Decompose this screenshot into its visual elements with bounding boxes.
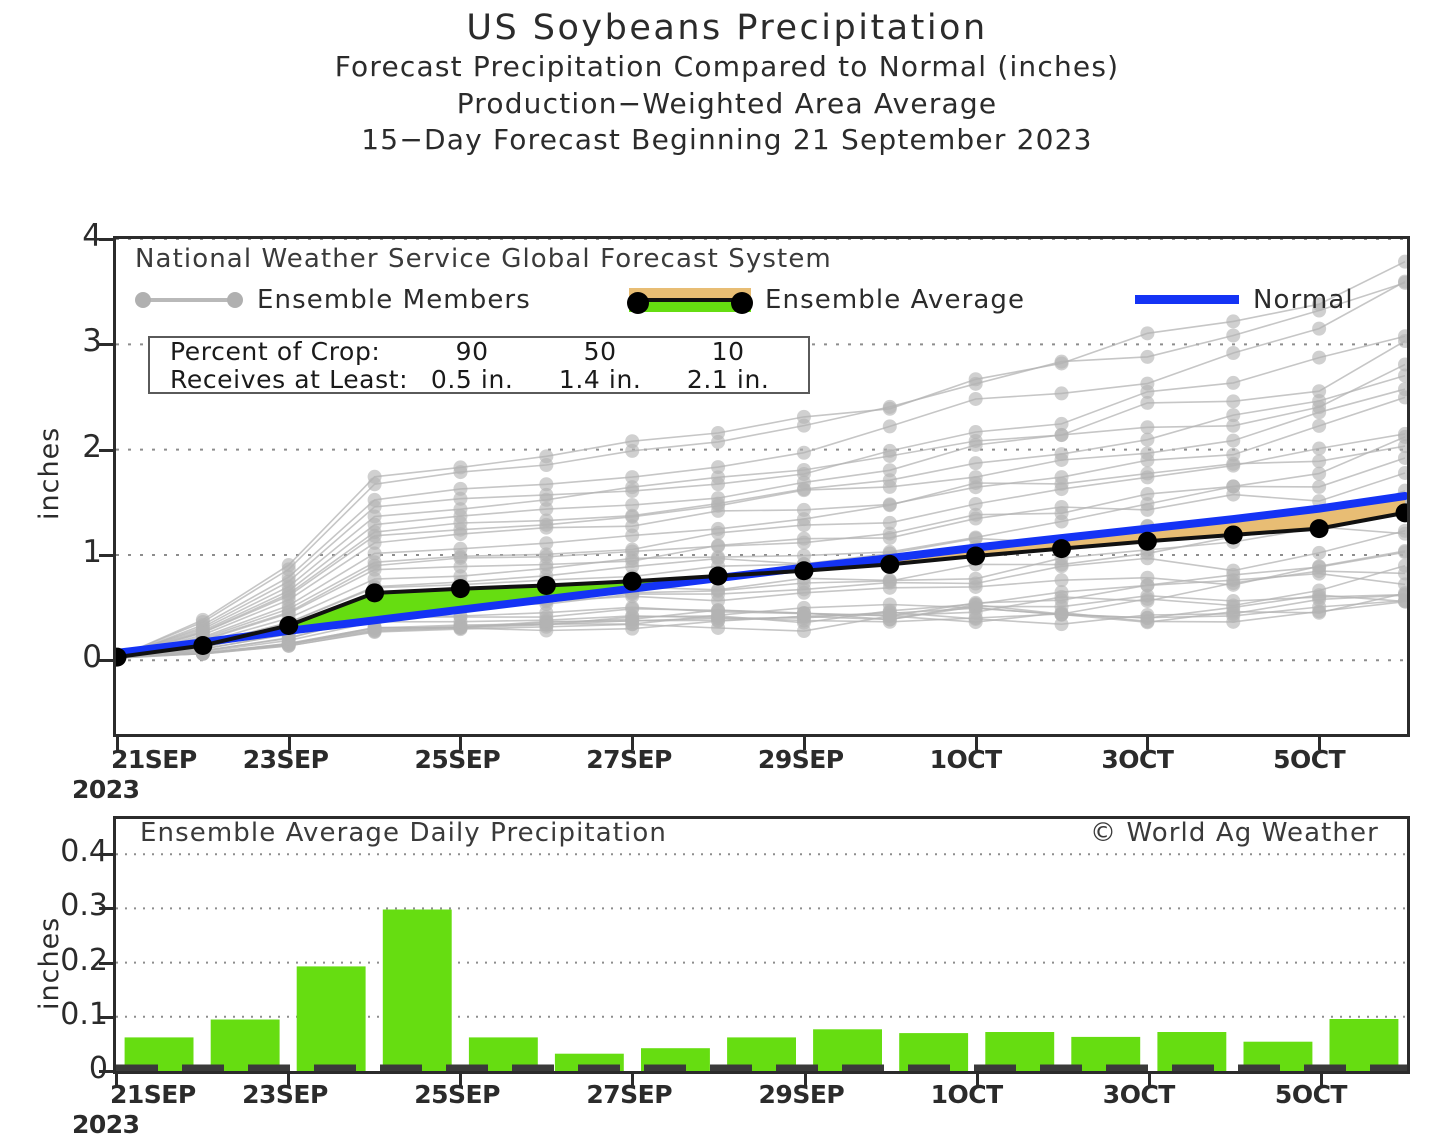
main-y-tick-mark — [99, 554, 113, 557]
title-block: US Soybeans Precipitation Forecast Preci… — [0, 8, 1454, 158]
legend-ensemble-average: Ensemble Average — [629, 280, 1025, 320]
main-x-tick-label: 1OCT — [930, 745, 1002, 774]
main-x-tick-label: 25SEP — [414, 745, 500, 774]
copyright-label: © World Ag Weather — [1090, 818, 1379, 848]
amount-value: 2.1 in. — [664, 366, 792, 394]
amount-value: 1.4 in. — [536, 366, 664, 394]
main-x-tick-mark — [975, 737, 978, 750]
bottom-x-tick-mark — [115, 1074, 118, 1087]
main-y-tick-label: 3 — [42, 323, 102, 359]
main-x-tick-mark — [459, 737, 462, 750]
percent-value: 50 — [536, 338, 664, 366]
bottom-x-tick-label: 27SEP — [586, 1080, 672, 1109]
bottom-x-tick-mark — [804, 1074, 807, 1087]
bottom-x-tick-mark — [631, 1074, 634, 1087]
ensemble-average-swatch-icon — [629, 285, 751, 315]
bottom-x-tick-mark — [459, 1074, 462, 1087]
bottom-plot-svg — [116, 819, 1407, 1071]
main-x-tick-mark — [803, 737, 806, 750]
main-y-tick-mark — [99, 659, 113, 662]
percent-value: 90 — [408, 338, 536, 366]
legend-ensemble-members: Ensemble Members — [135, 280, 531, 320]
chart-subtitle-2: Production−Weighted Area Average — [0, 86, 1454, 122]
bottom-y-tick-label: 0 — [18, 1051, 108, 1086]
main-x-tick-label: 3OCT — [1101, 745, 1173, 774]
bottom-x-tick-mark — [1148, 1074, 1151, 1087]
bottom-y-tick-mark — [99, 1070, 113, 1073]
bottom-x-tick-mark — [1320, 1074, 1323, 1087]
normal-swatch-icon — [1135, 294, 1239, 306]
chart-subtitle-1: Forecast Precipitation Compared to Norma… — [0, 49, 1454, 85]
bottom-x-tick-label: 1OCT — [931, 1080, 1003, 1109]
amount-value: 0.5 in. — [408, 366, 536, 394]
bottom-x-tick-label: 23SEP — [242, 1080, 328, 1109]
legend-ensemble-members-label: Ensemble Members — [257, 285, 531, 315]
bottom-y-tick-mark — [99, 907, 113, 910]
bottom-x-axis-year: 2023 — [72, 1110, 140, 1139]
ensemble-members-swatch-icon — [135, 291, 243, 309]
receives-at-least-label: Receives at Least: — [150, 366, 408, 394]
main-x-tick-mark — [116, 737, 119, 750]
bottom-y-tick-label: 0.2 — [18, 943, 108, 978]
percent-of-crop-box: Percent of Crop: 90 50 10 Receives at Le… — [148, 336, 810, 394]
bottom-y-tick-mark — [99, 1016, 113, 1019]
main-x-tick-label: 27SEP — [586, 745, 672, 774]
chart-subtitle-3: 15−Day Forecast Beginning 21 September 2… — [0, 122, 1454, 158]
main-y-tick-mark — [99, 449, 113, 452]
main-y-tick-mark — [99, 238, 113, 241]
bottom-x-tick-mark — [976, 1074, 979, 1087]
table-row: Receives at Least: 0.5 in. 1.4 in. 2.1 i… — [150, 366, 792, 394]
bottom-y-tick-mark — [99, 853, 113, 856]
bottom-x-tick-mark — [287, 1074, 290, 1087]
bottom-x-tick-label: 29SEP — [759, 1080, 845, 1109]
table-row: Percent of Crop: 90 50 10 — [150, 338, 792, 366]
legend-normal-label: Normal — [1253, 285, 1354, 315]
legend-source-label: National Weather Service Global Forecast… — [135, 244, 1395, 274]
legend: National Weather Service Global Forecast… — [135, 244, 1395, 320]
bottom-x-tick-label: 5OCT — [1275, 1080, 1347, 1109]
chart-page: US Soybeans Precipitation Forecast Preci… — [0, 0, 1454, 1139]
bottom-y-tick-label: 0.1 — [18, 997, 108, 1032]
chart-title: US Soybeans Precipitation — [0, 8, 1454, 49]
percent-of-crop-label: Percent of Crop: — [150, 338, 408, 366]
main-x-axis-year: 2023 — [72, 775, 140, 804]
main-y-tick-label: 0 — [42, 639, 102, 675]
main-x-tick-label: 5OCT — [1273, 745, 1345, 774]
bottom-y-tick-label: 0.4 — [18, 834, 108, 869]
bottom-panel-note: Ensemble Average Daily Precipitation — [140, 818, 667, 848]
main-x-tick-mark — [1146, 737, 1149, 750]
legend-normal: Normal — [1135, 280, 1354, 320]
main-y-tick-label: 2 — [42, 429, 102, 465]
bottom-y-tick-label: 0.3 — [18, 888, 108, 923]
main-y-tick-label: 1 — [42, 534, 102, 570]
bottom-y-tick-mark — [99, 962, 113, 965]
main-y-tick-label: 4 — [42, 218, 102, 254]
main-x-tick-label: 23SEP — [243, 745, 329, 774]
main-x-tick-mark — [288, 737, 291, 750]
main-y-tick-mark — [99, 343, 113, 346]
main-x-tick-mark — [631, 737, 634, 750]
bottom-x-tick-label: 3OCT — [1103, 1080, 1175, 1109]
main-x-tick-label: 29SEP — [758, 745, 844, 774]
percent-value: 10 — [664, 338, 792, 366]
main-x-tick-mark — [1318, 737, 1321, 750]
bottom-x-tick-label: 25SEP — [414, 1080, 500, 1109]
bottom-plot-area — [113, 816, 1410, 1074]
main-x-tick-label: 21SEP — [111, 745, 197, 774]
percent-of-crop-table: Percent of Crop: 90 50 10 Receives at Le… — [150, 338, 792, 394]
bottom-x-tick-label: 21SEP — [110, 1080, 196, 1109]
legend-ensemble-average-label: Ensemble Average — [765, 285, 1025, 315]
